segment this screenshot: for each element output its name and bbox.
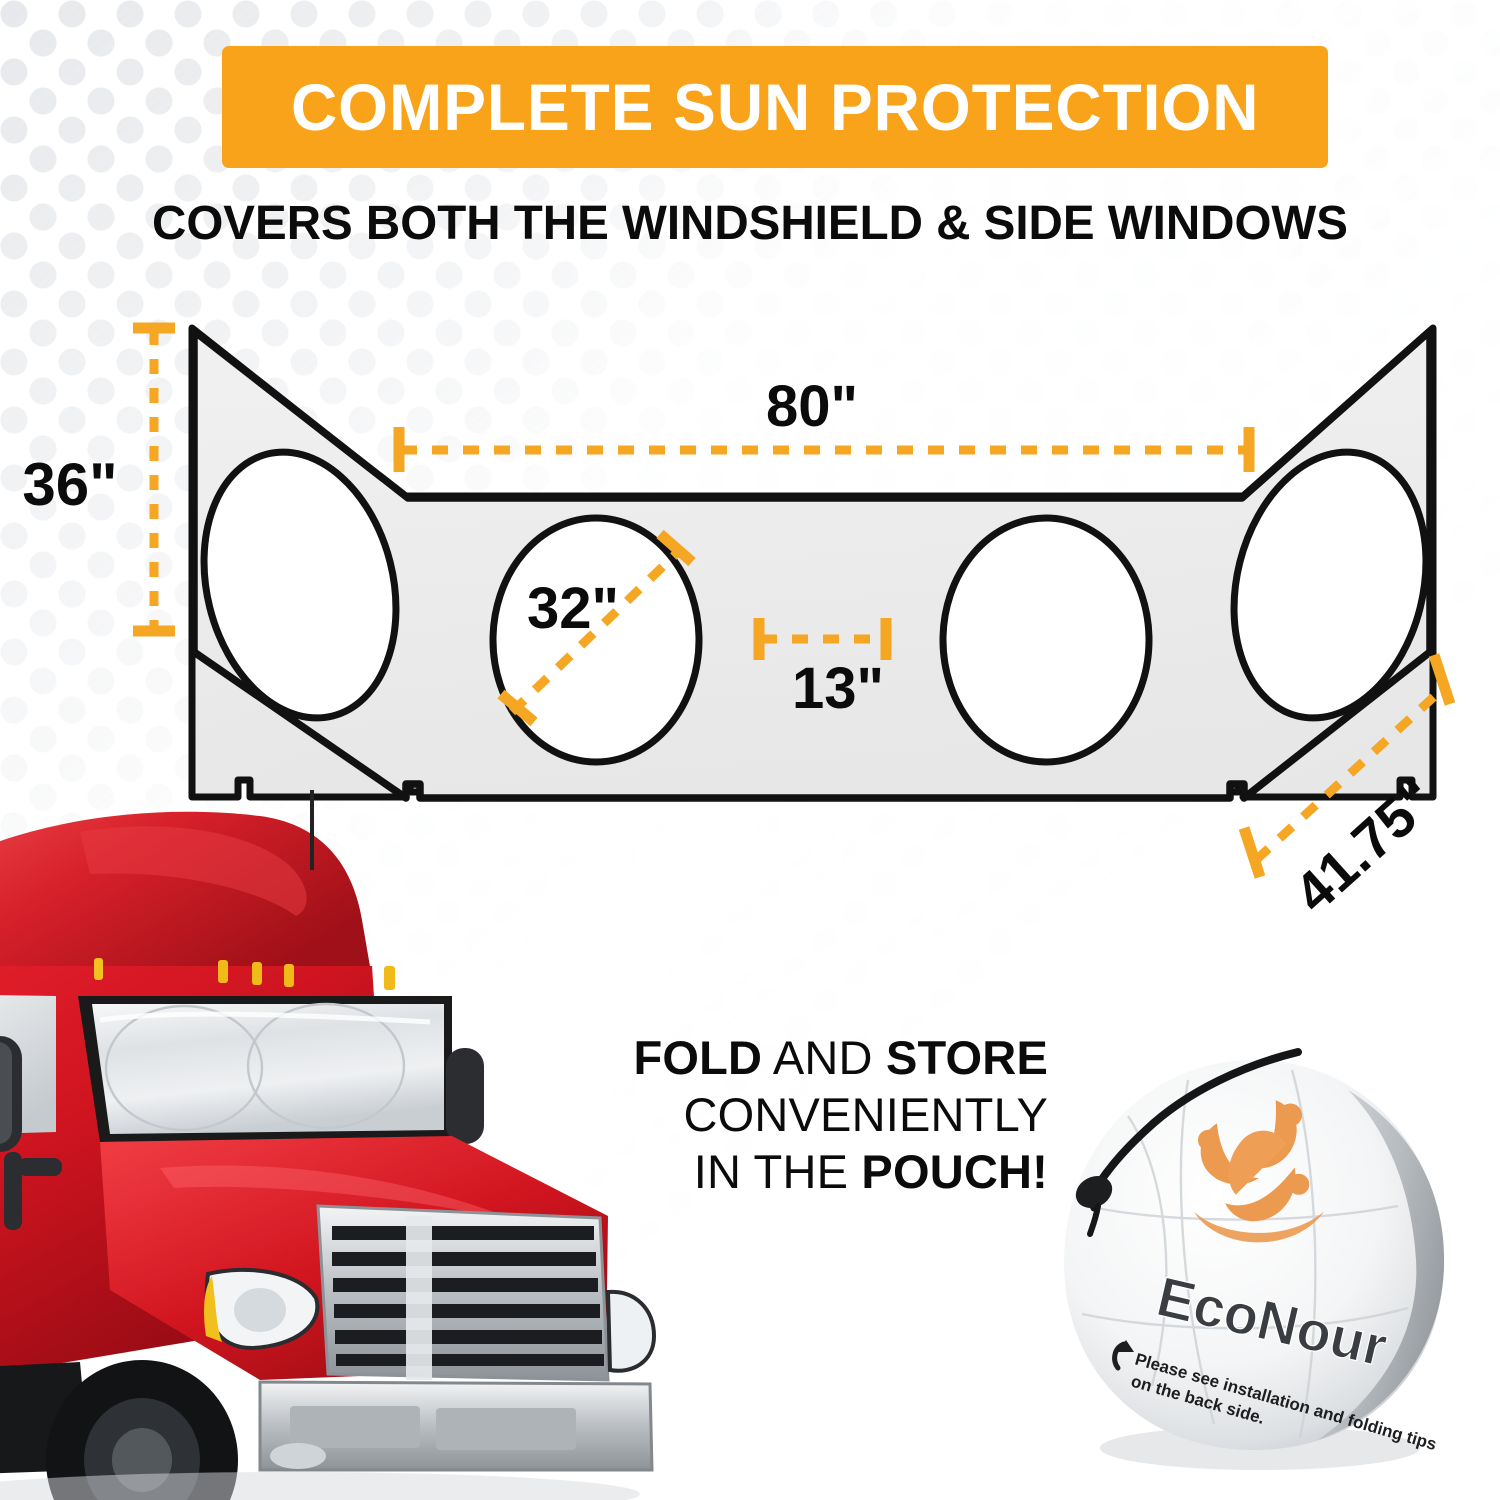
fold-copy-line-3: IN THE POUCH! — [528, 1144, 1048, 1201]
bumper-vent-left — [290, 1406, 420, 1448]
dimension-36in: 36" — [22, 328, 175, 631]
fold-copy-line-2: CONVENIENTLY — [528, 1087, 1048, 1144]
header-banner: COMPLETE SUN PROTECTION — [222, 46, 1328, 168]
grille-center-bar — [406, 1216, 432, 1380]
pouch-illustration: EcoNour Please see installation and fold… — [1048, 1046, 1468, 1476]
truck-grille — [318, 1206, 608, 1380]
store-word: STORE — [886, 1031, 1048, 1084]
truck-headlight — [204, 1270, 317, 1348]
truck-headlight-right — [608, 1292, 654, 1371]
fold-word: FOLD — [633, 1031, 762, 1084]
truck-ground-shadow — [0, 1472, 640, 1500]
bumper-vent-right — [436, 1408, 576, 1450]
banner-title: COMPLETE SUN PROTECTION — [291, 74, 1259, 140]
dimension-32in-label: 32" — [527, 576, 619, 641]
infographic-page: COMPLETE SUN PROTECTION COVERS BOTH THE … — [0, 0, 1500, 1500]
and-word: AND — [762, 1031, 886, 1084]
truck-hood-mirror — [446, 1048, 484, 1144]
storage-pouch: EcoNour Please see installation and fold… — [1048, 1046, 1468, 1476]
fold-and-store-copy: FOLD AND STORE CONVENIENTLY IN THE POUCH… — [528, 1030, 1048, 1201]
dimension-80in-label: 80" — [766, 374, 858, 439]
dimension-80in: 80" — [399, 374, 1249, 472]
dimension-36in-label: 36" — [22, 451, 117, 518]
fold-copy-line-1: FOLD AND STORE — [528, 1030, 1048, 1087]
in-the-words: IN THE — [694, 1145, 862, 1198]
center-circle-right — [943, 518, 1149, 762]
dimension-13in-label: 13" — [792, 656, 884, 721]
bumper-fog-light — [270, 1443, 326, 1469]
header-subtitle: COVERS BOTH THE WINDSHIELD & SIDE WINDOW… — [8, 196, 1493, 251]
pouch-word: POUCH! — [861, 1145, 1048, 1198]
